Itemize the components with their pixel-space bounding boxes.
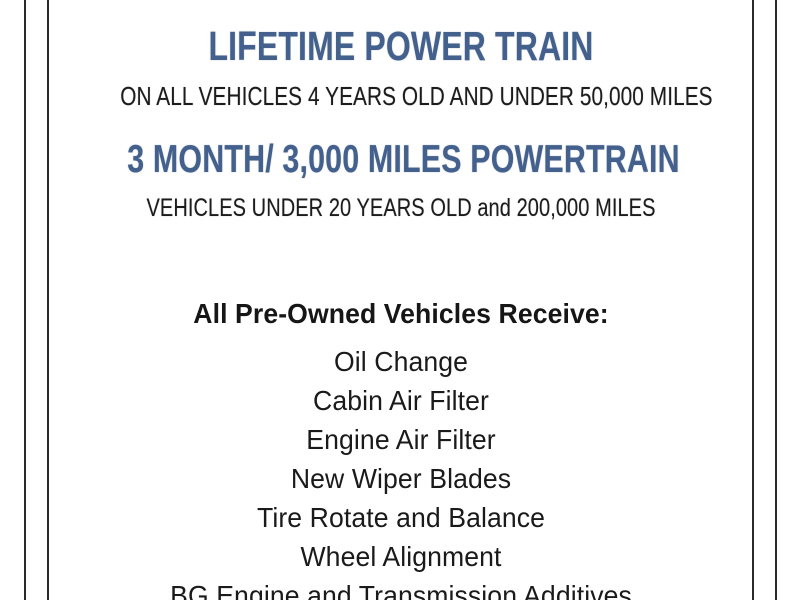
pre-owned-section: All Pre-Owned Vehicles Receive: Oil Chan… — [50, 300, 752, 600]
warranty-block-three-month: 3 MONTH/ 3,000 MILES POWERTRAIN VEHICLES… — [50, 140, 752, 221]
three-month-powertrain-headline: 3 MONTH/ 3,000 MILES POWERTRAIN — [127, 140, 675, 179]
list-item: Tire Rotate and Balance — [68, 498, 735, 537]
warranty-block-lifetime: LIFETIME POWER TRAIN ON ALL VEHICLES 4 Y… — [50, 26, 752, 109]
list-item: Cabin Air Filter — [68, 381, 735, 420]
left-outer-rule — [24, 0, 26, 600]
list-item: Engine Air Filter — [68, 420, 735, 459]
right-outer-rule — [775, 0, 777, 600]
list-item: Wheel Alignment — [68, 537, 735, 576]
right-inner-rule — [752, 0, 754, 600]
flyer-content: LIFETIME POWER TRAIN ON ALL VEHICLES 4 Y… — [50, 0, 752, 600]
left-inner-rule — [47, 0, 49, 600]
list-item: BG Engine and Transmission Additives — [68, 576, 735, 600]
lifetime-powertrain-subline: ON ALL VEHICLES 4 YEARS OLD AND UNDER 50… — [120, 83, 682, 109]
three-month-powertrain-subline: VEHICLES UNDER 20 YEARS OLD and 200,000 … — [120, 196, 682, 221]
list-item: Oil Change — [68, 342, 735, 381]
warranty-flyer: LIFETIME POWER TRAIN ON ALL VEHICLES 4 Y… — [0, 0, 800, 600]
pre-owned-service-list: Oil Change Cabin Air Filter Engine Air F… — [50, 342, 752, 600]
pre-owned-section-title: All Pre-Owned Vehicles Receive: — [68, 300, 735, 329]
list-item: New Wiper Blades — [68, 459, 735, 498]
lifetime-powertrain-headline: LIFETIME POWER TRAIN — [127, 26, 675, 67]
